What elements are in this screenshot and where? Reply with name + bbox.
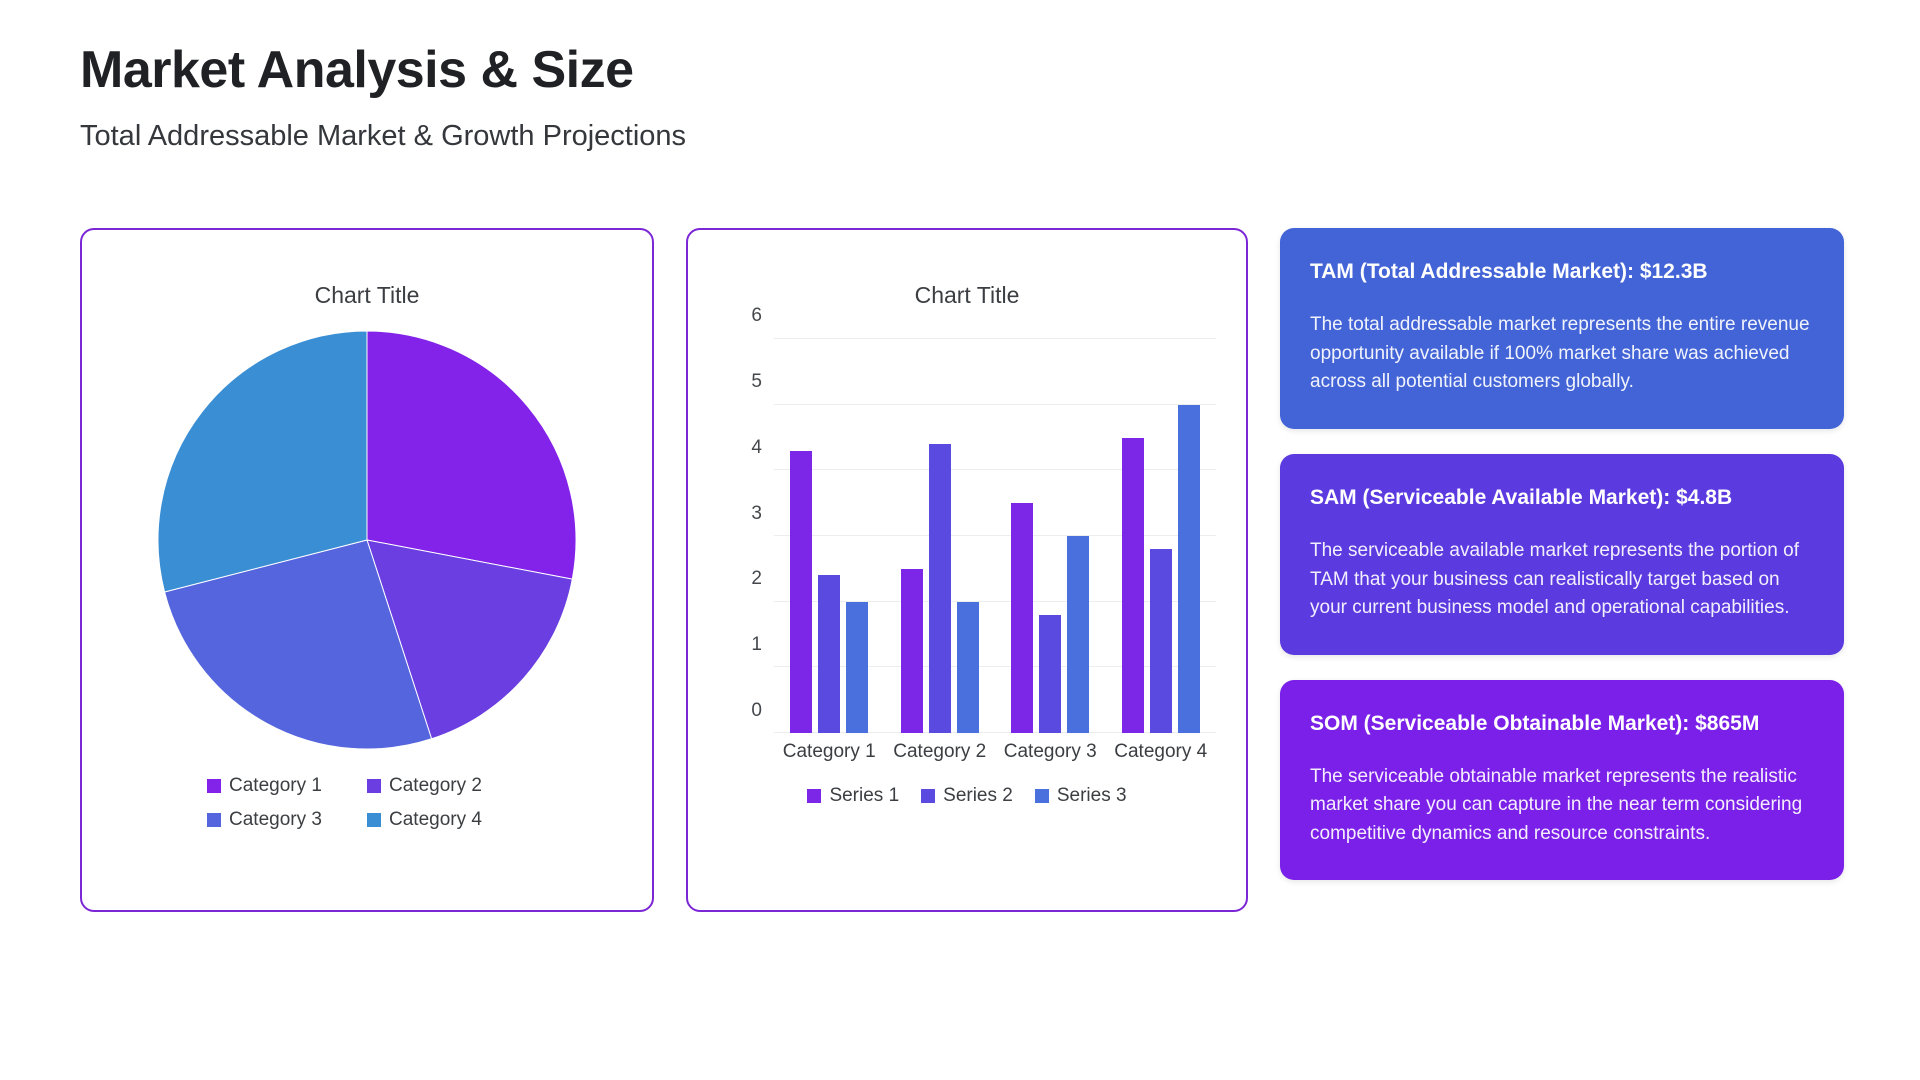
bar[interactable] [1067,536,1089,733]
content-row: Chart Title Category 1Category 2Category… [80,228,1844,912]
bar-chart-plot: 0123456 Category 1Category 2Category 3Ca… [714,329,1216,769]
market-size-card[interactable]: SOM (Serviceable Obtainable Market): $86… [1280,680,1844,881]
bar-group [1011,339,1089,733]
bar-plot-area: 0123456 [774,339,1216,733]
legend-label: Category 3 [229,809,322,831]
y-axis-tick-label: 0 [751,700,762,722]
market-size-card[interactable]: TAM (Total Addressable Market): $12.3BTh… [1280,228,1844,429]
x-axis-tick-label: Category 4 [1114,741,1207,763]
y-axis-tick-label: 2 [751,568,762,590]
pie-chart-title: Chart Title [82,282,652,309]
pie-slice[interactable] [367,331,576,579]
legend-swatch-icon [807,789,821,803]
market-size-card-body: The serviceable available market represe… [1310,537,1814,623]
pie-chart-card[interactable]: Chart Title Category 1Category 2Category… [80,228,654,912]
bar-group [790,339,868,733]
bar-chart-legend: Series 1Series 2Series 3 [688,785,1246,807]
legend-item[interactable]: Category 4 [367,809,527,831]
bar[interactable] [818,575,840,733]
legend-item[interactable]: Series 1 [807,785,899,807]
market-size-card-heading: SAM (Serviceable Available Market): $4.8… [1310,484,1814,511]
bar-group [1122,339,1200,733]
slide-root: Market Analysis & Size Total Addressable… [0,0,1920,1080]
y-axis-tick-label: 4 [751,437,762,459]
market-size-card-body: The total addressable market represents … [1310,311,1814,397]
bar[interactable] [1039,615,1061,733]
legend-label: Category 4 [389,809,482,831]
legend-label: Series 3 [1057,785,1127,807]
pie-chart-plot [82,331,652,749]
bar[interactable] [846,602,868,733]
bar[interactable] [1178,405,1200,733]
legend-item[interactable]: Category 1 [207,775,367,797]
bar-chart-title: Chart Title [688,282,1246,309]
pie-graphic [158,331,576,749]
market-size-card-body: The serviceable obtainable market repres… [1310,763,1814,849]
legend-swatch-icon [207,813,221,827]
legend-item[interactable]: Series 3 [1035,785,1127,807]
legend-label: Category 1 [229,775,322,797]
legend-swatch-icon [367,779,381,793]
legend-item[interactable]: Category 3 [207,809,367,831]
legend-label: Category 2 [389,775,482,797]
bar[interactable] [790,451,812,733]
market-size-card-heading: SOM (Serviceable Obtainable Market): $86… [1310,710,1814,737]
legend-swatch-icon [921,789,935,803]
legend-swatch-icon [207,779,221,793]
pie-graphic-svg [158,331,576,749]
bar-x-axis-labels: Category 1Category 2Category 3Category 4 [774,741,1216,763]
bar[interactable] [957,602,979,733]
y-axis-tick-label: 5 [751,371,762,393]
bar[interactable] [929,444,951,733]
bar-group [901,339,979,733]
x-axis-tick-label: Category 3 [1004,741,1097,763]
page-subtitle: Total Addressable Market & Growth Projec… [80,119,686,154]
bar[interactable] [1150,549,1172,733]
bar-chart-card[interactable]: Chart Title 0123456 Category 1Category 2… [686,228,1248,912]
x-axis-tick-label: Category 2 [893,741,986,763]
bar[interactable] [901,569,923,733]
page-title: Market Analysis & Size [80,42,686,99]
bar[interactable] [1122,438,1144,734]
slide-header: Market Analysis & Size Total Addressable… [80,42,686,154]
y-axis-tick-label: 1 [751,634,762,656]
pie-chart-legend: Category 1Category 2Category 3Category 4 [207,775,527,831]
x-axis-tick-label: Category 1 [783,741,876,763]
legend-label: Series 2 [943,785,1013,807]
y-axis-tick-label: 6 [751,305,762,327]
legend-swatch-icon [1035,789,1049,803]
market-size-cards: TAM (Total Addressable Market): $12.3BTh… [1280,228,1844,880]
bar-groups [774,339,1216,733]
market-size-card-heading: TAM (Total Addressable Market): $12.3B [1310,258,1814,285]
market-size-card[interactable]: SAM (Serviceable Available Market): $4.8… [1280,454,1844,655]
legend-label: Series 1 [829,785,899,807]
y-axis-tick-label: 3 [751,503,762,525]
legend-item[interactable]: Category 2 [367,775,527,797]
legend-swatch-icon [367,813,381,827]
legend-item[interactable]: Series 2 [921,785,1013,807]
bar[interactable] [1011,503,1033,733]
